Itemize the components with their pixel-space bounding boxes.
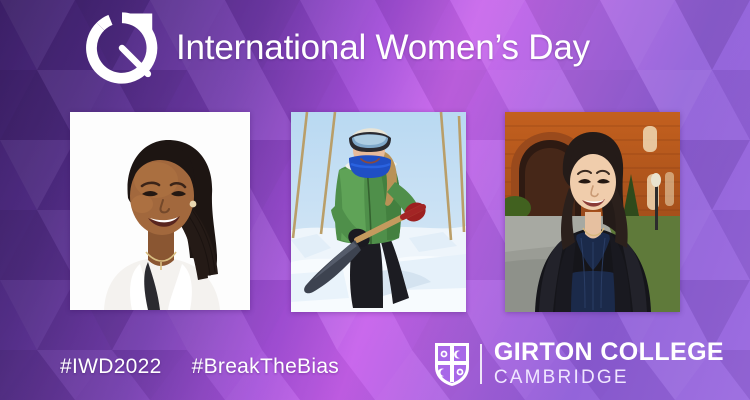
girton-college-shield-crest-icon bbox=[433, 341, 471, 387]
banner-header: International Women’s Day bbox=[0, 0, 750, 96]
hashtag-iwd2022: #IWD2022 bbox=[60, 355, 162, 379]
portrait-woman-braids bbox=[70, 112, 250, 310]
portrait-woman-academic-gown bbox=[505, 112, 680, 312]
page-title: International Women’s Day bbox=[176, 28, 590, 68]
portrait-woman-polar-fieldwork bbox=[291, 112, 466, 312]
girton-college-logo: GIRTON COLLEGE CAMBRIDGE bbox=[433, 340, 724, 387]
hashtag-group: #IWD2022 #BreakTheBias bbox=[60, 355, 339, 379]
iwd-circular-arrow-venus-icon bbox=[86, 12, 158, 84]
college-location: CAMBRIDGE bbox=[494, 368, 724, 387]
logo-divider bbox=[480, 344, 482, 384]
girton-wordmark: GIRTON COLLEGE CAMBRIDGE bbox=[491, 340, 724, 387]
iwd-banner: International Women’s Day bbox=[0, 0, 750, 400]
college-name: GIRTON COLLEGE bbox=[494, 340, 724, 365]
hashtag-breakthebias: #BreakTheBias bbox=[192, 355, 339, 379]
